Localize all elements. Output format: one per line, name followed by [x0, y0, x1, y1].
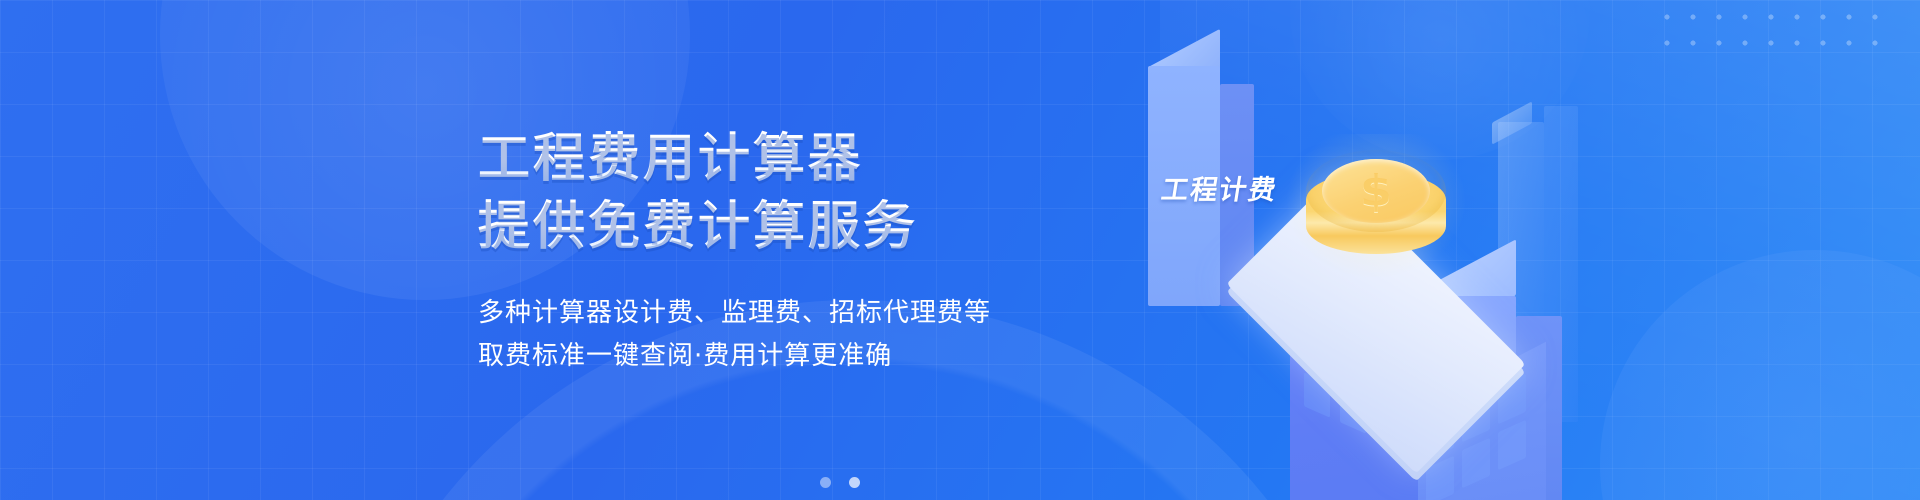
banner-illustration: $	[1120, 0, 1820, 500]
banner-subcopy-line1: 多种计算器设计费、监理费、招标代理费等	[478, 292, 1098, 335]
carousel-dot-1[interactable]	[820, 477, 831, 488]
dollar-sign-icon: $	[1322, 162, 1430, 221]
carousel-dot-2[interactable]	[849, 477, 860, 488]
promo-banner: 工程费用计算器 提供免费计算服务 多种计算器设计费、监理费、招标代理费等 取费标…	[0, 0, 1920, 500]
banner-headline-line2: 提供免费计算服务	[478, 196, 1098, 258]
banner-subcopy-line2: 取费标准一键查阅·费用计算更准确	[478, 335, 1098, 378]
carousel-indicator[interactable]	[0, 477, 1920, 488]
building-window	[1498, 420, 1526, 470]
gold-coin-stack-icon: $	[1306, 150, 1446, 280]
illustration-label: 工程计费	[1159, 168, 1281, 207]
banner-headline-line1: 工程费用计算器	[478, 128, 1098, 190]
coin-top-face: $	[1306, 150, 1446, 232]
banner-copy-block: 工程费用计算器 提供免费计算服务 多种计算器设计费、监理费、招标代理费等 取费标…	[478, 128, 1098, 378]
coin-inner-face: $	[1322, 159, 1430, 223]
